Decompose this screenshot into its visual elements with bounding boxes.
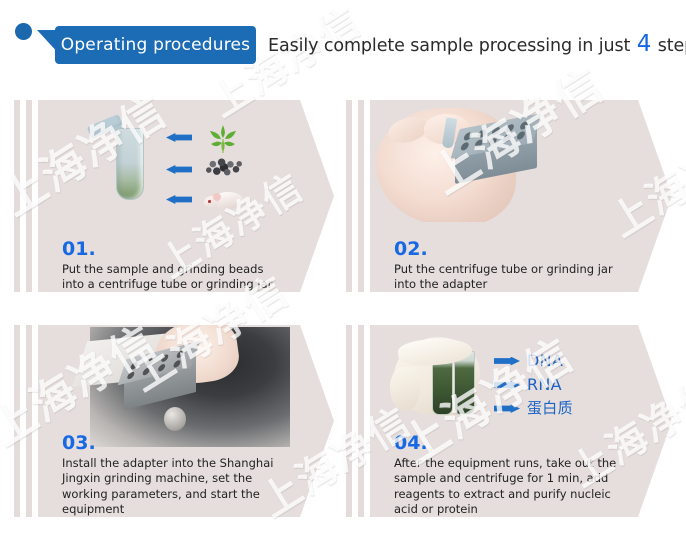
- step-card-4: DNA RNA 蛋白质 04. After the equipment runs…: [346, 325, 672, 517]
- step-3-text: 03. Install the adapter into the Shangha…: [62, 434, 294, 517]
- steps-grid: 01. Put the sample and grinding beads in…: [0, 86, 686, 538]
- step-2-text: 02. Put the centrifuge tube or grinding …: [394, 240, 632, 292]
- gloved-thumb-icon: [390, 367, 420, 411]
- tagline-after: steps:: [652, 36, 686, 56]
- step-number: 01.: [62, 240, 294, 260]
- card-accent-bar: [26, 325, 32, 517]
- banner-dot-icon: [15, 23, 32, 40]
- left-arrow-icon: [166, 195, 192, 204]
- step-2-illustration: [370, 100, 672, 222]
- step-card-body: 02. Put the centrifuge tube or grinding …: [370, 100, 672, 292]
- step-3-illustration: [38, 325, 334, 447]
- card-accent-bar: [346, 100, 352, 292]
- left-arrow-icon: [166, 165, 192, 174]
- card-accent-bar: [358, 325, 364, 517]
- grinding-beads-icon: [204, 155, 244, 181]
- step-number: 04.: [394, 434, 632, 454]
- output-label-protein: 蛋白质: [494, 401, 573, 416]
- step-1-text: 01. Put the sample and grinding beads in…: [62, 240, 294, 292]
- card-accent-bar: [14, 100, 20, 292]
- card-accent-bar: [14, 325, 20, 517]
- step-number: 03.: [62, 434, 294, 454]
- step-number: 02.: [394, 240, 632, 260]
- step-4-illustration: DNA RNA 蛋白质: [370, 325, 672, 447]
- right-arrow-icon: [494, 381, 520, 390]
- tagline-step-count: 4: [636, 31, 653, 57]
- step-description: Put the sample and grinding beads into a…: [62, 262, 294, 292]
- page-tagline: Easily complete sample processing in jus…: [268, 31, 686, 57]
- tagline-before: Easily complete sample processing in jus…: [268, 36, 636, 56]
- step-card-2: 02. Put the centrifuge tube or grinding …: [346, 100, 672, 292]
- banner-label: Operating procedures: [61, 35, 251, 55]
- step-card-body: 01. Put the sample and grinding beads in…: [38, 100, 334, 292]
- step-description: After the equipment runs, take out the s…: [394, 456, 632, 517]
- centrifuge-tube-icon: [116, 128, 144, 200]
- output-label-rna: RNA: [494, 377, 562, 393]
- step-card-body: DNA RNA 蛋白质 04. After the equipment runs…: [370, 325, 672, 517]
- output-label-text: RNA: [527, 377, 562, 393]
- step-description: Put the centrifuge tube or grinding jar …: [394, 262, 632, 292]
- card-accent-bar: [26, 100, 32, 292]
- right-arrow-icon: [494, 404, 520, 413]
- step-1-illustration: [38, 100, 334, 222]
- page-header: Operating procedures Easily complete sam…: [0, 0, 686, 86]
- step-card-3: 03. Install the adapter into the Shangha…: [14, 325, 334, 517]
- step-card-1: 01. Put the sample and grinding beads in…: [14, 100, 334, 292]
- left-arrow-icon: [166, 133, 192, 142]
- step-4-text: 04. After the equipment runs, take out t…: [394, 434, 632, 517]
- step-description: Install the adapter into the Shanghai Ji…: [62, 456, 294, 517]
- right-arrow-icon: [494, 357, 520, 366]
- machine-knob-icon: [164, 407, 186, 431]
- output-label-text: 蛋白质: [527, 401, 573, 416]
- mouse-sample-icon: [204, 186, 246, 212]
- output-label-text: DNA: [527, 353, 563, 369]
- leaf-sample-icon: [206, 122, 240, 154]
- card-accent-bar: [358, 100, 364, 292]
- operating-procedures-banner: Operating procedures: [55, 26, 256, 64]
- step-card-body: 03. Install the adapter into the Shangha…: [38, 325, 334, 517]
- card-accent-bar: [346, 325, 352, 517]
- output-label-dna: DNA: [494, 353, 563, 369]
